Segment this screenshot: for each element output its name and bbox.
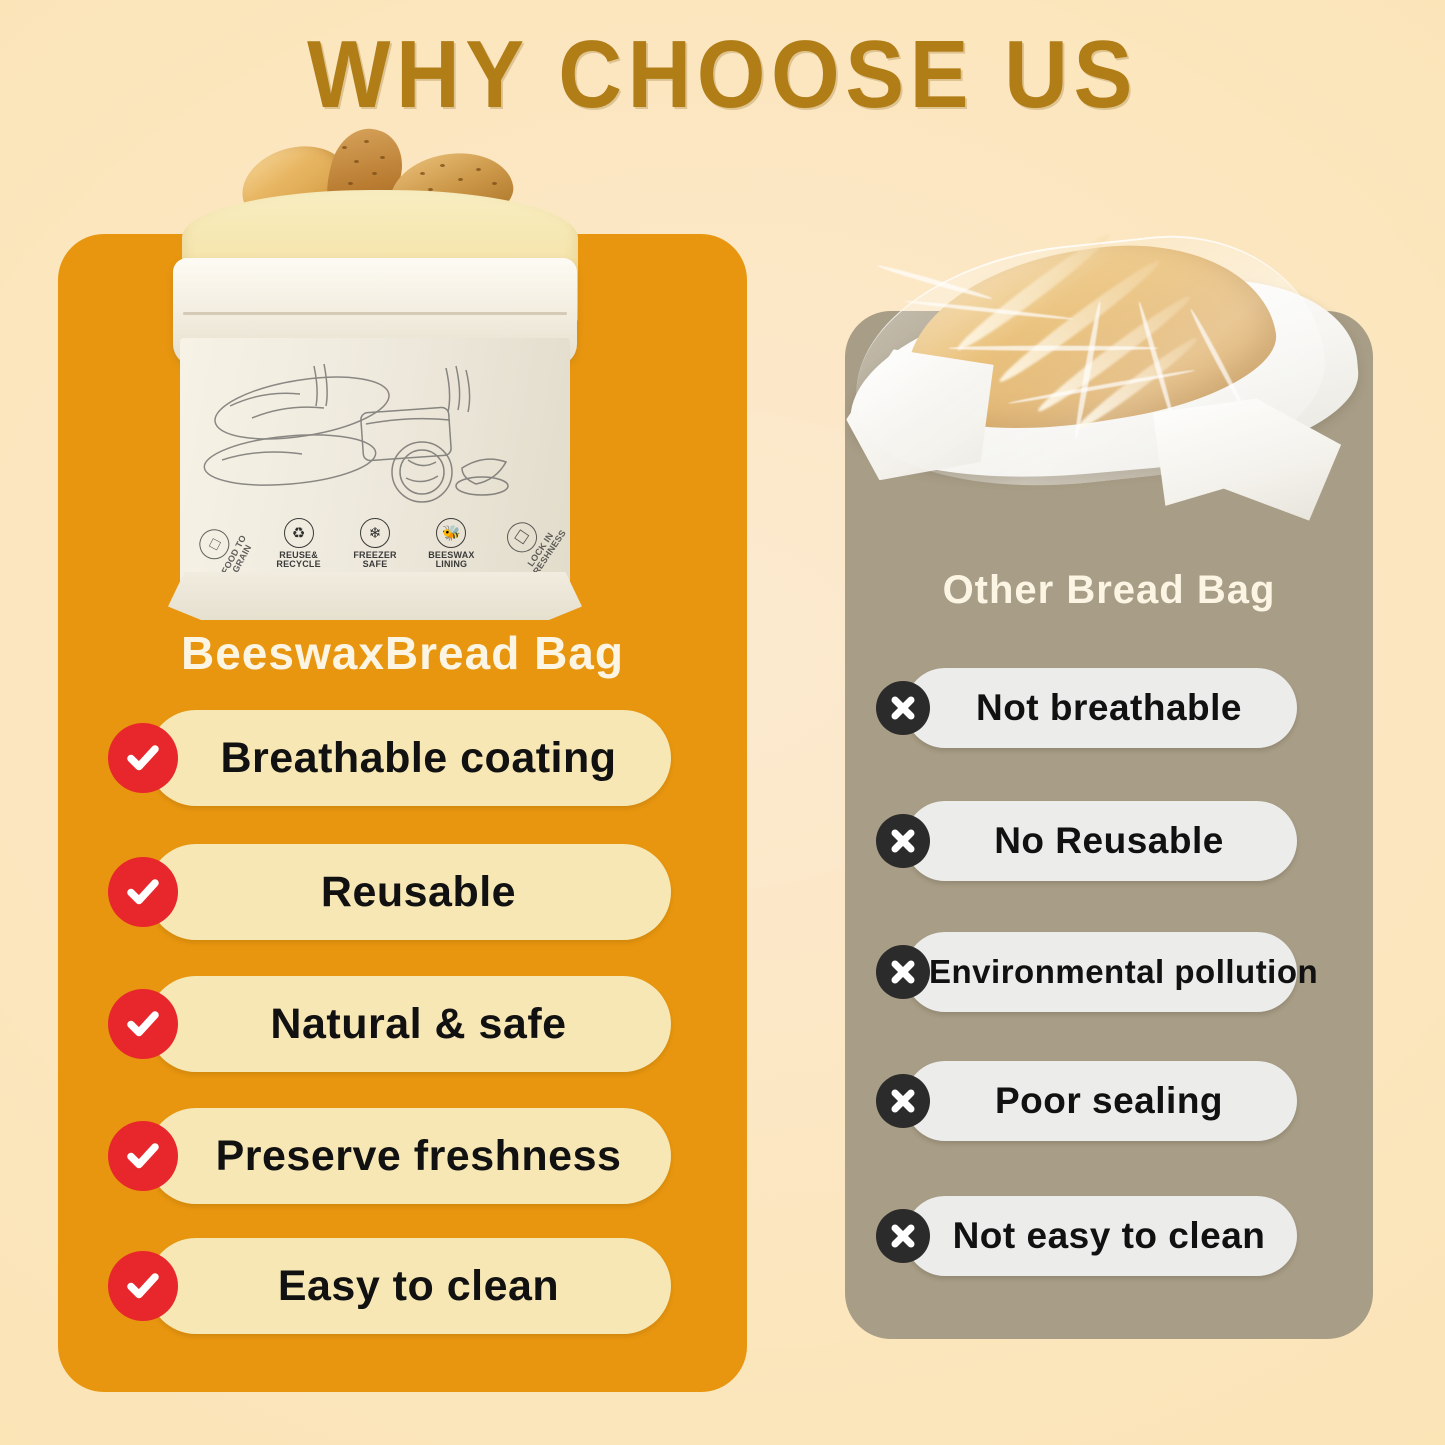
- right-feature-row[interactable]: No Reusable: [905, 801, 1297, 881]
- plastic-bread-bag-image: [820, 198, 1382, 524]
- left-feature-row[interactable]: Reusable: [148, 844, 671, 940]
- check-icon: [108, 1251, 178, 1321]
- left-feature-label: Preserve freshness: [148, 1132, 671, 1181]
- left-feature-label: Natural & safe: [148, 1000, 671, 1049]
- left-feature-row[interactable]: Breathable coating: [148, 710, 671, 806]
- recycle-icon: ♻: [284, 518, 314, 548]
- check-icon: [108, 723, 178, 793]
- cross-icon: [876, 681, 930, 735]
- bread-sketch-print: [194, 356, 514, 506]
- snowflake-icon: ❄: [360, 518, 390, 548]
- left-feature-row[interactable]: Preserve freshness: [148, 1108, 671, 1204]
- comparison-infographic: WHY CHOOSE US: [0, 0, 1445, 1445]
- bag-badge-recycle: ♻ REUSE& RECYCLE: [260, 518, 336, 569]
- right-feature-label: Environmental pollution: [905, 953, 1326, 991]
- page-title: WHY CHOOSE US: [58, 20, 1387, 130]
- check-icon: [108, 857, 178, 927]
- right-feature-row[interactable]: Environmental pollution: [905, 932, 1297, 1012]
- left-feature-label: Reusable: [148, 868, 671, 917]
- right-feature-row[interactable]: Not easy to clean: [905, 1196, 1297, 1276]
- right-feature-label: Poor sealing: [905, 1080, 1297, 1122]
- cross-icon: [876, 945, 930, 999]
- check-icon: [108, 989, 178, 1059]
- left-feature-row[interactable]: Natural & safe: [148, 976, 671, 1072]
- right-feature-label: Not breathable: [905, 687, 1297, 729]
- cross-icon: [876, 814, 930, 868]
- right-feature-label: No Reusable: [905, 820, 1297, 862]
- right-feature-label: Not easy to clean: [905, 1215, 1297, 1257]
- right-column-heading: Other Bread Bag: [845, 568, 1373, 613]
- check-icon: [108, 1121, 178, 1191]
- beeswax-bread-bag-image: □ FOOD TO GRAIN ♻ REUSE& RECYCLE ❄ FREEZ…: [168, 120, 592, 622]
- left-column-heading: BeeswaxBread Bag: [58, 626, 747, 680]
- left-feature-label: Breathable coating: [148, 734, 671, 783]
- right-feature-row[interactable]: Poor sealing: [905, 1061, 1297, 1141]
- bag-badge-beeswax: 🐝 BEESWAX LINING: [413, 518, 489, 569]
- right-feature-row[interactable]: Not breathable: [905, 668, 1297, 748]
- cross-icon: [876, 1074, 930, 1128]
- left-feature-label: Easy to clean: [148, 1262, 671, 1311]
- left-feature-row[interactable]: Easy to clean: [148, 1238, 671, 1334]
- cross-icon: [876, 1209, 930, 1263]
- bag-badge-freezer: ❄ FREEZER SAFE: [337, 518, 413, 569]
- bee-icon: 🐝: [436, 518, 466, 548]
- bag-base: [168, 572, 582, 620]
